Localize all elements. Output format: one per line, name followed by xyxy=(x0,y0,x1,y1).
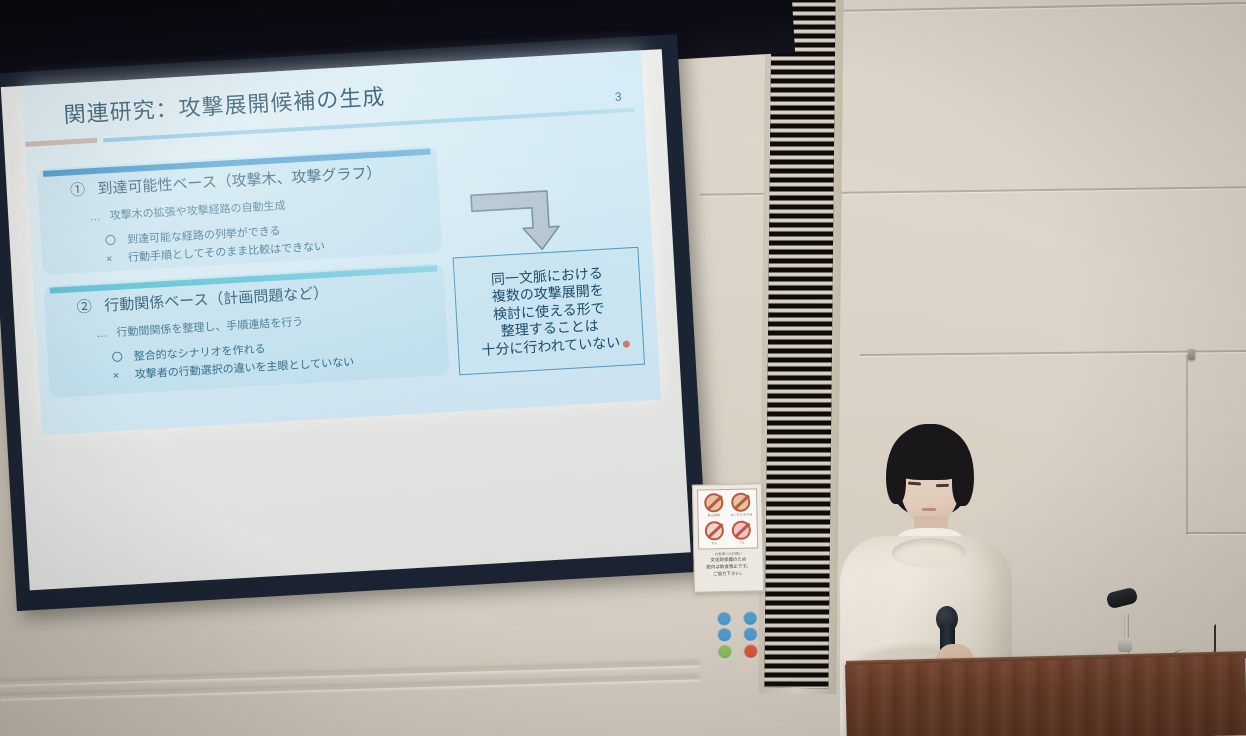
sign-cell-2: おにぎり/お弁当 xyxy=(728,491,755,518)
no-candy-label: アメ xyxy=(739,540,745,544)
slide-title: 関連研究：攻撃展開候補の生成 xyxy=(63,79,386,129)
presenter-hair-left xyxy=(886,446,906,504)
cross-marker-icon: × xyxy=(113,369,136,382)
no-food-icon xyxy=(704,493,723,512)
sign-cell-3: ガム xyxy=(701,520,728,547)
no-gum-icon xyxy=(704,521,723,540)
sign-cell-1: 飲み物類 xyxy=(700,492,727,519)
wooden-podium xyxy=(845,655,1246,736)
sign-text-block: お客様へのお願い 文化財保護のため 館内は飲食禁止です。 ご協力下さい。 xyxy=(698,551,759,578)
circle-marker-icon: 〇 xyxy=(111,348,134,365)
no-drink-label: おにぎり/お弁当 xyxy=(730,513,752,517)
wall-panel-divider xyxy=(1186,355,1188,535)
bent-arrow-icon xyxy=(468,179,582,257)
switch-dot-blue-3[interactable] xyxy=(718,629,731,642)
switch-dot-red[interactable] xyxy=(744,644,757,657)
switch-dot-blue-4[interactable] xyxy=(743,628,756,641)
presentation-slide: 関連研究：攻撃展開候補の生成 3 ① 到達可能性ベース（攻撃木、攻撃グラフ） …… xyxy=(22,50,661,435)
prohibition-icon-grid: 飲み物類 おにぎり/お弁当 ガム アメ xyxy=(697,488,758,549)
sign-cell-4: アメ xyxy=(728,519,755,546)
slide-page-number: 3 xyxy=(615,90,622,104)
no-gum-label: ガム xyxy=(711,541,717,545)
switch-dot-blue-2[interactable] xyxy=(743,612,756,625)
wall-seam-right-low xyxy=(1186,532,1246,534)
circle-marker-icon: 〇 xyxy=(105,231,128,248)
presentation-room-photo: 関連研究：攻撃展開候補の生成 3 ① 到達可能性ベース（攻撃木、攻撃グラフ） …… xyxy=(0,0,1246,736)
cross-marker-icon: × xyxy=(106,252,129,265)
presenter-mouth xyxy=(922,508,936,511)
light-switch-panel[interactable] xyxy=(718,612,767,659)
switch-dot-green[interactable] xyxy=(718,645,731,658)
section-2-desc-marker: … xyxy=(96,328,108,341)
presenter-sweater-neckline xyxy=(892,538,966,568)
presenter-hair-right xyxy=(952,444,974,506)
wall-vent xyxy=(764,0,835,688)
wall-hook-icon xyxy=(1188,349,1195,360)
callout-end-mark-icon xyxy=(623,341,630,348)
sign-body-line-3: ご協力下さい。 xyxy=(699,571,759,579)
switch-dot-blue-1[interactable] xyxy=(718,612,731,625)
no-candy-icon xyxy=(732,520,751,539)
title-rule-tan xyxy=(25,138,97,147)
presenter-eye-right xyxy=(936,484,949,487)
section-1-desc-marker: … xyxy=(89,211,101,224)
section-2-number: ② xyxy=(76,298,92,316)
section-1-number: ① xyxy=(70,182,86,200)
wall-notice-sign: 飲み物類 おにぎり/お弁当 ガム アメ お客様へのお願い 文化財保護のため 館内… xyxy=(692,483,764,592)
no-food-label: 飲み物類 xyxy=(708,513,720,517)
no-drink-icon xyxy=(731,493,750,512)
slide-callout-box: 同一文脈における 複数の攻撃展開を 検討に使える形で 整理することは 十分に行わ… xyxy=(453,247,645,376)
